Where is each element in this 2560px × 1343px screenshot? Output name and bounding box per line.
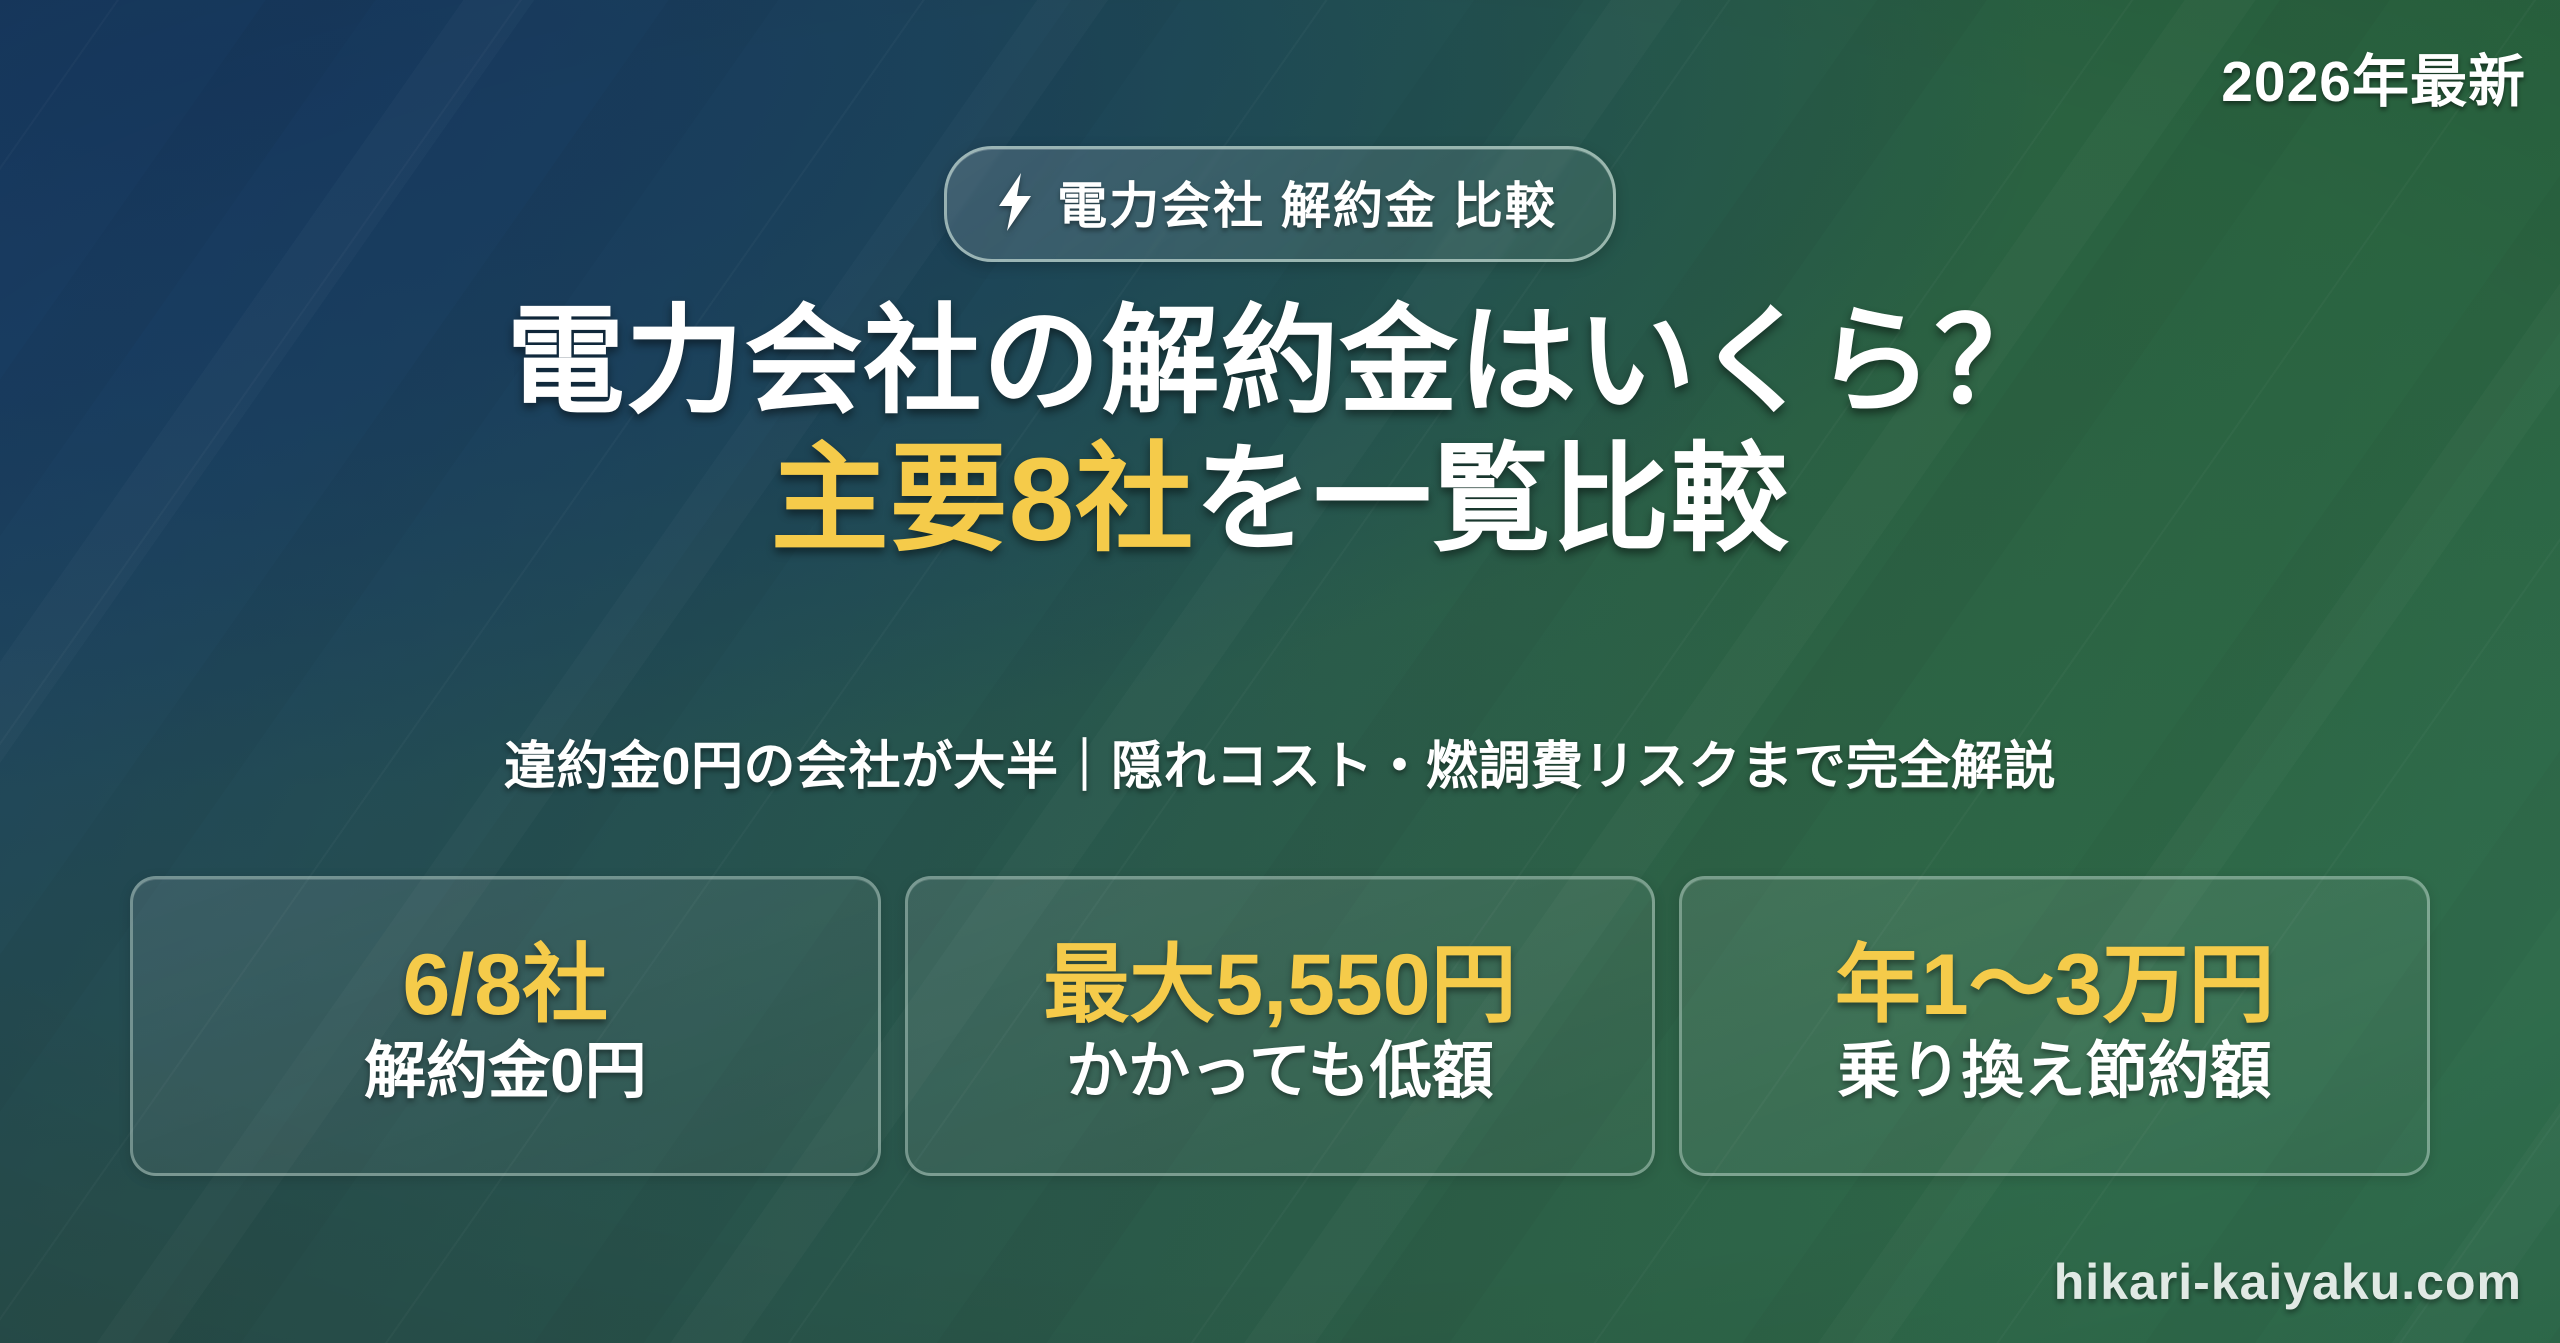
category-badge: 電力会社 解約金 比較 (944, 146, 1616, 262)
stat-card-3-value: 年1〜3万円 (1835, 939, 2275, 1032)
bolt-icon (995, 173, 1035, 231)
headline-line-1: 電力会社の解約金はいくら？ (0, 296, 2560, 428)
site-url: hikari-kaiyaku.com (2054, 1253, 2522, 1311)
stat-card-3-label: 乗り換え節約額 (1838, 1038, 2272, 1106)
stat-card-2-label: かかっても低額 (1066, 1038, 1494, 1106)
stat-card-1: 6/8社 解約金0円 (130, 876, 881, 1176)
stat-card-list: 6/8社 解約金0円 最大5,550円 かかっても低額 年1〜3万円 乗り換え節… (130, 876, 2430, 1176)
year-tag: 2026年最新 (2221, 36, 2526, 118)
stat-card-2: 最大5,550円 かかっても低額 (905, 876, 1656, 1176)
headline-accent: 主要8社 (771, 434, 1195, 566)
stat-card-1-value: 6/8社 (403, 939, 609, 1032)
headline-line-2: 主要8社を一覧比較 (0, 434, 2560, 566)
banner-content: 2026年最新 電力会社 解約金 比較 電力会社の解約金はいくら？ 主要8社を一… (0, 0, 2560, 1343)
subtitle: 違約金0円の会社が大半｜隠れコスト・燃調費リスクまで完全解説 (0, 724, 2560, 799)
stat-card-2-value: 最大5,550円 (1043, 939, 1516, 1032)
badge-container: 電力会社 解約金 比較 (0, 146, 2560, 262)
stat-card-1-label: 解約金0円 (364, 1038, 646, 1106)
badge-label: 電力会社 解約金 比較 (1057, 166, 1557, 238)
promo-banner: 2026年最新 電力会社 解約金 比較 電力会社の解約金はいくら？ 主要8社を一… (0, 0, 2560, 1343)
stat-card-3: 年1〜3万円 乗り換え節約額 (1679, 876, 2430, 1176)
page-title: 電力会社の解約金はいくら？ 主要8社を一覧比較 (0, 296, 2560, 566)
headline-line-2-rest: を一覧比較 (1194, 434, 1789, 566)
